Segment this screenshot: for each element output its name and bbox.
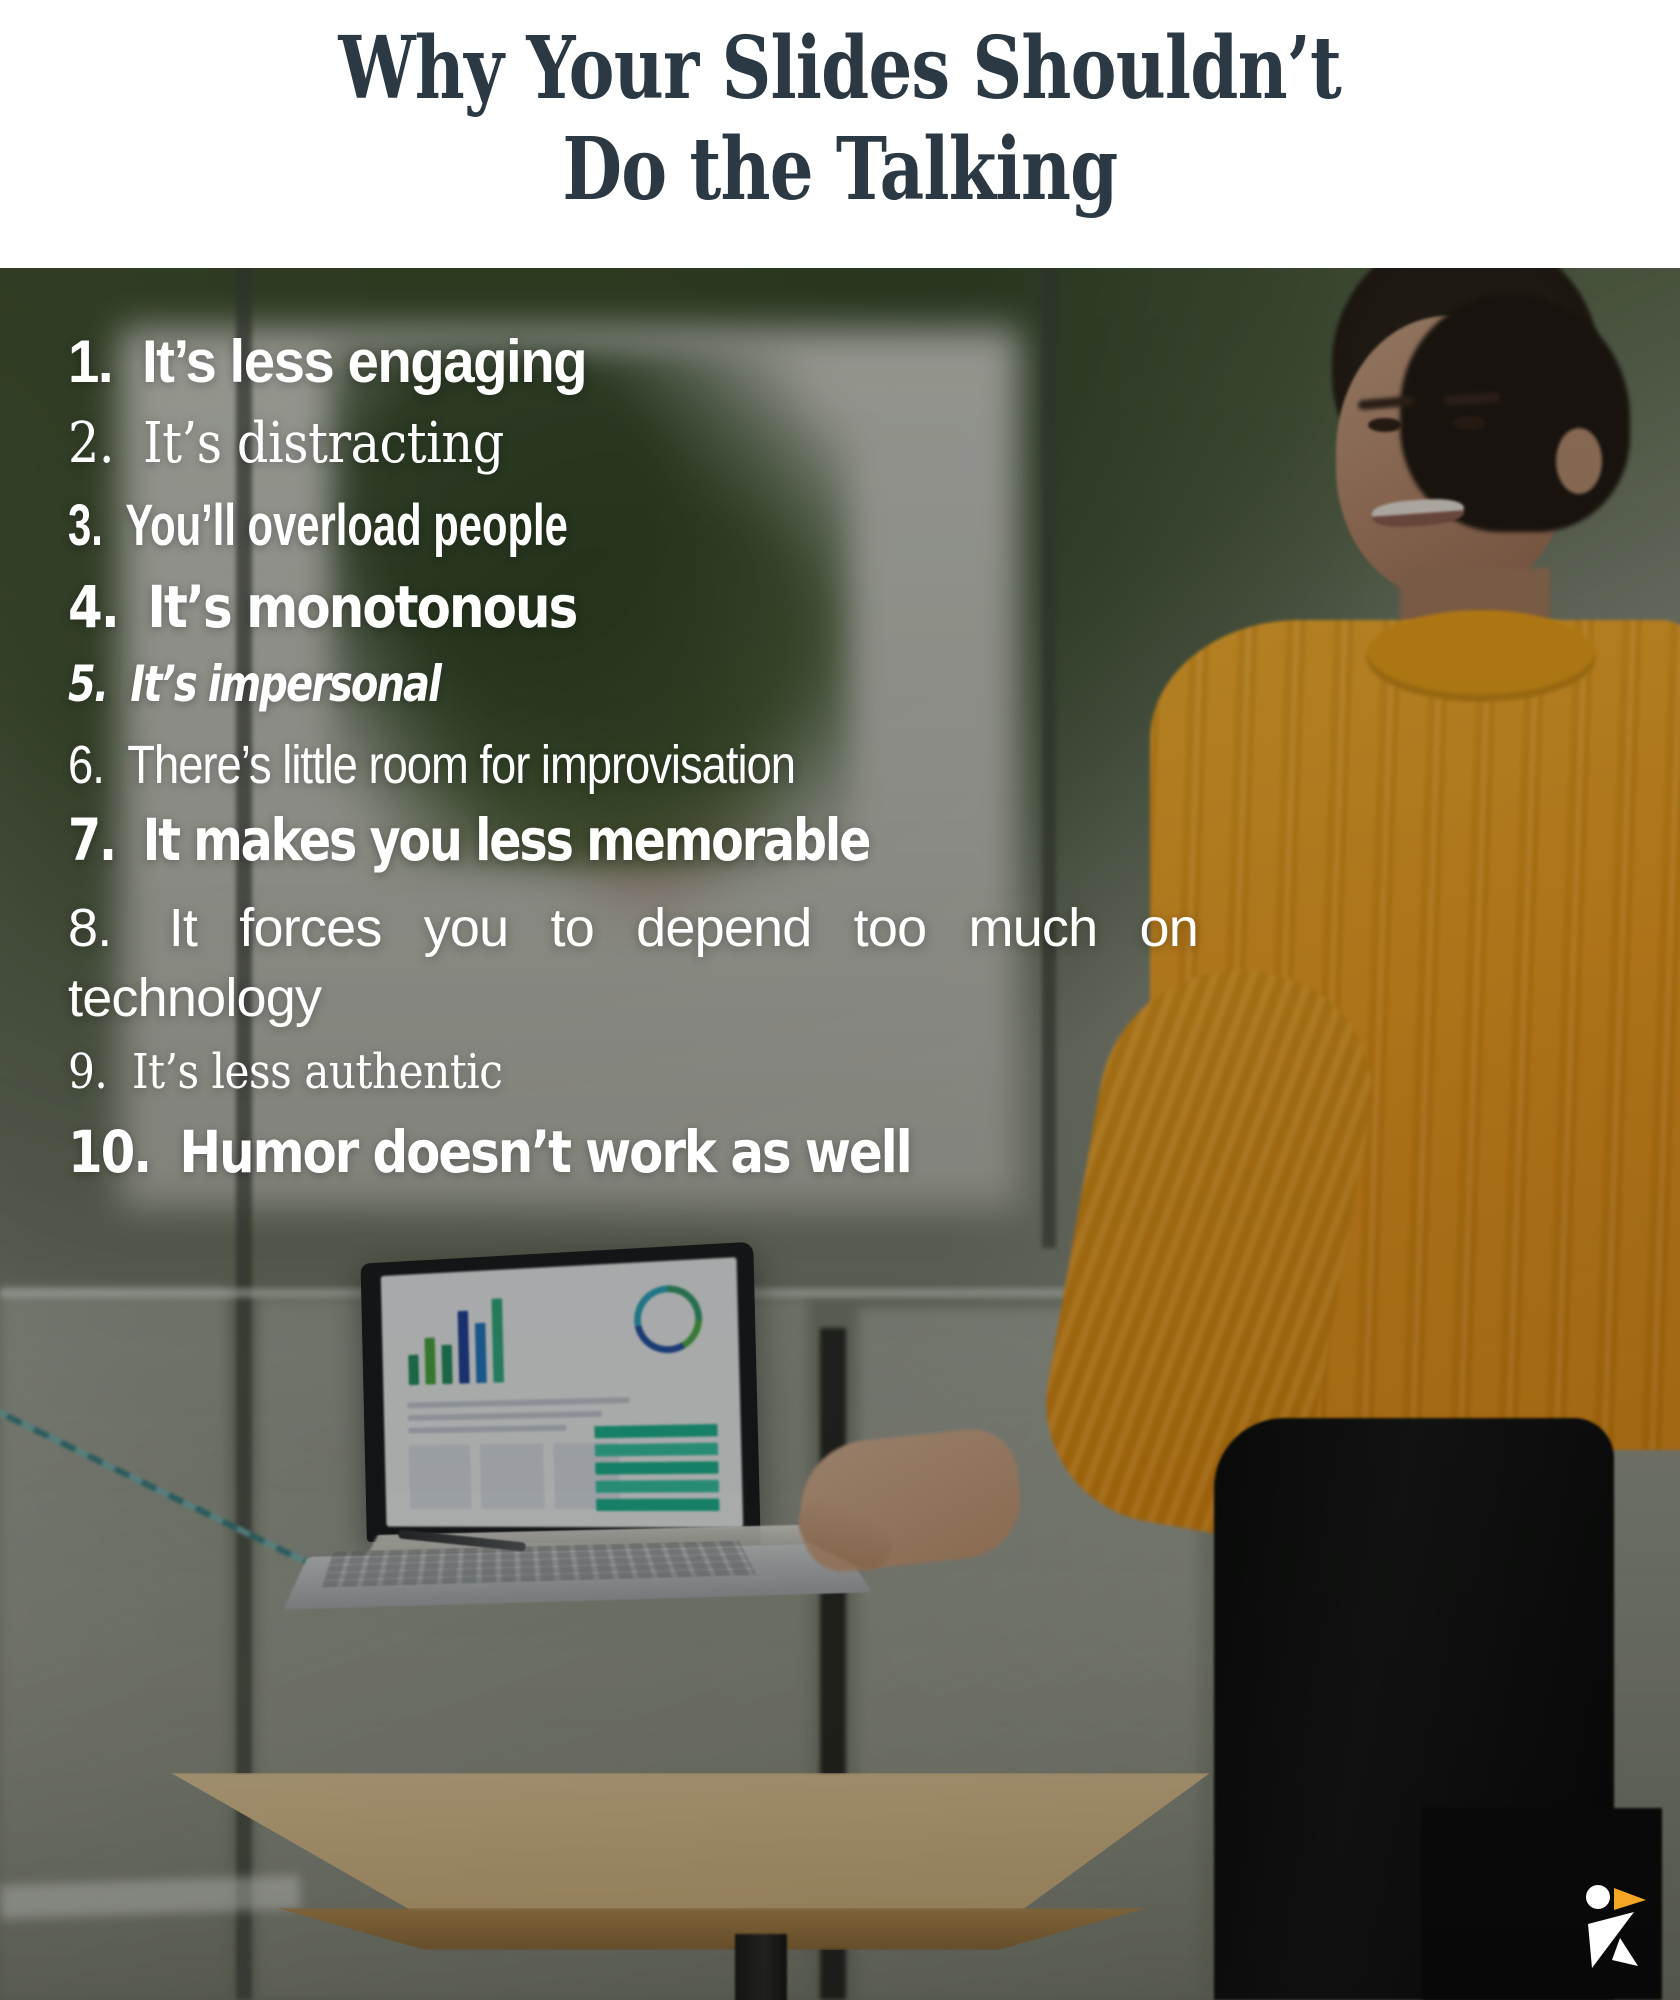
list-item: 10. Humor doesn’t work as well bbox=[68, 1122, 1398, 1182]
list-item-text: It makes you less memorable bbox=[143, 806, 870, 874]
list-item-number: 2. bbox=[68, 411, 114, 476]
list-item: 7. It makes you less memorable bbox=[68, 810, 1336, 870]
list-item: 2. It’s distracting bbox=[68, 413, 1428, 475]
list-item: 8. It forces you to depend too much on t… bbox=[68, 893, 1198, 1033]
list-item: 6. There’s little room for improvisation bbox=[68, 736, 1367, 794]
reasons-list: 1. It’s less engaging 2. It’s distractin… bbox=[0, 268, 1680, 2000]
list-item: 4. It’s monotonous bbox=[68, 577, 1398, 638]
list-item-number: 9. bbox=[68, 1044, 107, 1100]
logo-leg-icon bbox=[1612, 1938, 1638, 1966]
list-item-text: It’s distracting bbox=[143, 411, 504, 476]
list-item-text: It’s less engaging bbox=[142, 328, 586, 395]
list-item-number: 3. bbox=[68, 493, 103, 558]
list-item: 3. You’ll overload people bbox=[68, 496, 1181, 556]
list-item-number: 4. bbox=[68, 573, 118, 641]
list-item-number: 1. bbox=[68, 328, 112, 395]
list-item-text: It forces you to depend too much on tech… bbox=[68, 898, 1198, 1028]
list-item-text: Humor doesn’t work as well bbox=[179, 1118, 910, 1186]
list-item-number: 10. bbox=[68, 1118, 150, 1186]
list-item-number: 7. bbox=[68, 806, 115, 874]
presenting-figure-logo[interactable] bbox=[1568, 1880, 1652, 1976]
page-header: Why Your Slides Shouldn’t Do the Talking bbox=[0, 0, 1680, 268]
list-item: 5. It’s impersonal bbox=[68, 658, 1305, 710]
list-item: 9. It’s less authentic bbox=[68, 1047, 1428, 1098]
list-item-text: There’s little room for improvisation bbox=[127, 735, 795, 795]
logo-head-icon bbox=[1586, 1885, 1610, 1909]
list-item-text: It’s impersonal bbox=[130, 655, 439, 713]
list-item-text: It’s monotonous bbox=[147, 573, 576, 641]
list-item-text: You’ll overload people bbox=[125, 493, 567, 558]
list-item: 1. It’s less engaging bbox=[68, 330, 1521, 395]
list-item-text: It’s less authentic bbox=[132, 1044, 502, 1100]
list-item-number: 6. bbox=[68, 735, 104, 795]
page-title-line-1: Why Your Slides Shouldn’t bbox=[339, 18, 1342, 119]
logo-flag-icon bbox=[1614, 1888, 1646, 1910]
page-title-line-2: Do the Talking bbox=[562, 119, 1117, 220]
list-item-number: 5. bbox=[68, 655, 107, 713]
list-item-number: 8. bbox=[68, 898, 111, 958]
